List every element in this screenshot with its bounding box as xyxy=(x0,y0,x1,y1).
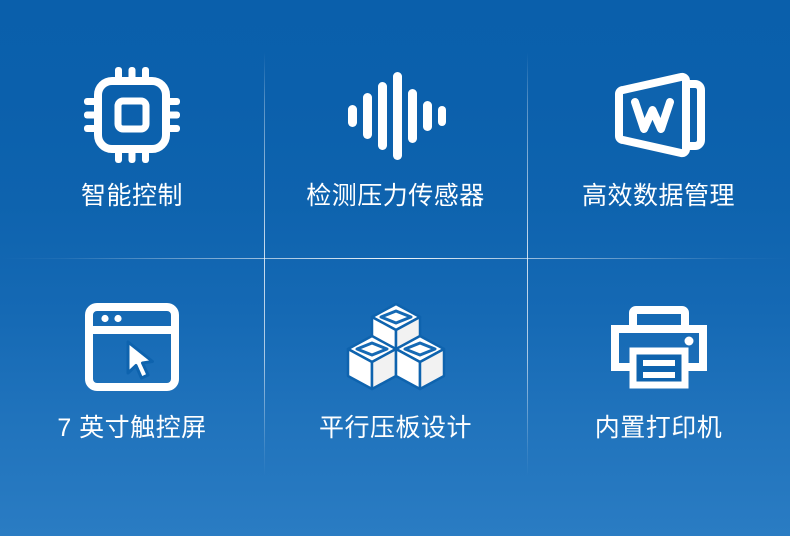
stacked-cubes-icon xyxy=(336,301,456,393)
feature-cell-builtin-printer[interactable]: 内置打印机 xyxy=(527,258,790,476)
feature-label: 高效数据管理 xyxy=(582,183,735,211)
feature-panel: 智能控制 检测压力传感器 xyxy=(0,0,790,536)
feature-cell-smart-control[interactable]: 智能控制 xyxy=(0,0,264,258)
feature-cell-parallel-platen[interactable]: 平行压板设计 xyxy=(264,258,527,476)
feature-cell-touchscreen[interactable]: 7 英寸触控屏 xyxy=(0,258,264,476)
feature-label: 7 英寸触控屏 xyxy=(57,415,206,443)
bottom-spacer xyxy=(0,476,790,536)
feature-grid: 智能控制 检测压力传感器 xyxy=(0,0,790,536)
feature-label: 平行压板设计 xyxy=(319,415,472,443)
feature-label: 检测压力传感器 xyxy=(306,183,485,211)
feature-label: 内置打印机 xyxy=(595,415,723,443)
cpu-chip-icon xyxy=(72,63,192,167)
audio-waveform-icon xyxy=(336,63,456,167)
feature-label: 智能控制 xyxy=(81,183,183,211)
feature-cell-data-management[interactable]: 高效数据管理 xyxy=(527,0,790,258)
browser-window-cursor-icon xyxy=(72,301,192,393)
feature-cell-pressure-sensor[interactable]: 检测压力传感器 xyxy=(264,0,527,258)
printer-icon xyxy=(599,301,719,393)
word-document-icon xyxy=(599,63,719,167)
